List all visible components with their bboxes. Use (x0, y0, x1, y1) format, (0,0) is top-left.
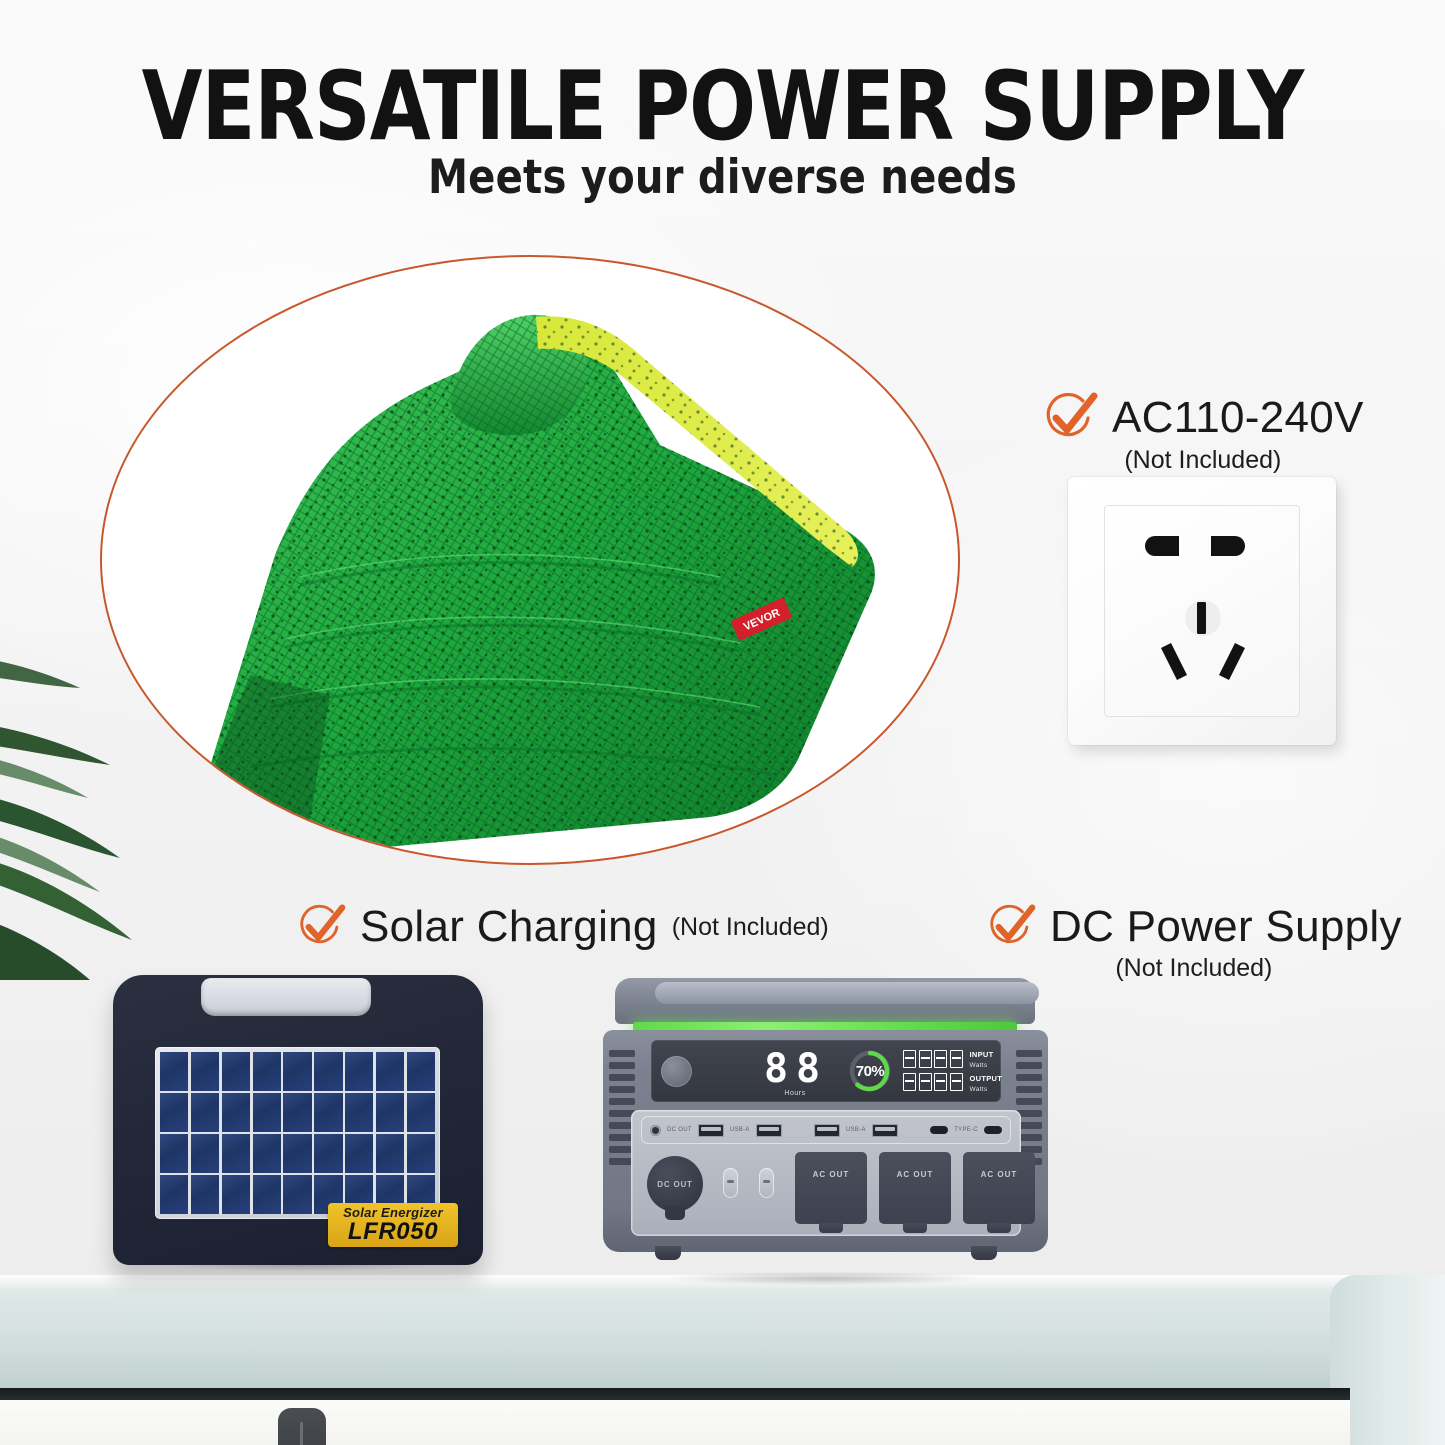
ac-outlet-3[interactable]: AC OUT (963, 1152, 1035, 1224)
drawer-handle[interactable] (278, 1408, 326, 1445)
port-panel: DC OUT USB-A USB-A TYPE-C DC OUT (631, 1110, 1021, 1236)
solar-cell-grid (160, 1052, 435, 1214)
solar-cell-frame (155, 1047, 440, 1219)
input-unit: Watts (970, 1063, 1003, 1070)
power-button[interactable] (661, 1056, 692, 1087)
check-circle-icon (296, 904, 346, 950)
check-circle-icon (1042, 392, 1098, 444)
product-photo-frame: VEVOR (100, 255, 960, 865)
usb-a-port-1[interactable] (698, 1124, 724, 1137)
feature-note: (Not Included) (672, 913, 829, 942)
output-unit: Watts (970, 1087, 1003, 1094)
solar-panel-badge: Solar Energizer LFR050 (328, 1203, 458, 1247)
solar-panel-handle[interactable] (201, 978, 371, 1016)
usb-c-port-1[interactable] (930, 1126, 948, 1134)
feature-solar-charging: Solar Charging (Not Included) (296, 902, 829, 952)
dc-out-label: DC OUT (647, 1156, 703, 1212)
output-label: OUTPUT (970, 1075, 1003, 1083)
station-body: 8 8 Hours 70% INPUT Watts (603, 1030, 1048, 1252)
output-value (903, 1073, 963, 1091)
portable-power-station[interactable]: 8 8 Hours 70% INPUT Watts (593, 978, 1058, 1280)
toggle-switch-dc[interactable] (723, 1168, 738, 1198)
solar-panel-unit[interactable]: Solar Energizer LFR050 (113, 975, 483, 1265)
watt-readouts: INPUT Watts OUTPUT Watts (903, 1050, 1002, 1094)
hours-digit-2: 8 (795, 1050, 821, 1090)
ac-out-label: AC OUT (879, 1170, 951, 1179)
page-subtitle: Meets your diverse needs (36, 150, 1409, 205)
ac-outlet-2[interactable]: AC OUT (879, 1152, 951, 1224)
station-top-shell (615, 978, 1035, 1024)
feature-label: AC110-240V (1112, 393, 1364, 443)
usb-a-label-2: USB-A (846, 1127, 866, 1133)
lcd-display: 8 8 Hours 70% INPUT Watts (651, 1040, 1001, 1102)
dc-out-socket[interactable]: DC OUT (647, 1156, 703, 1218)
hours-digits: 8 8 (763, 1050, 821, 1090)
feature-note: (Not Included) (1042, 446, 1364, 475)
dc-in-port[interactable] (650, 1125, 661, 1136)
ellipse-outline (100, 255, 960, 865)
battery-percent: 70% (847, 1048, 893, 1094)
product-marketing-image: VERSATILE POWER SUPPLY Meets your divers… (0, 0, 1445, 1445)
wall-outlet-faceplate (1104, 505, 1300, 717)
ac-out-label: AC OUT (963, 1170, 1035, 1179)
usb-a-label-1: USB-A (730, 1127, 750, 1133)
ports-row: DC OUT USB-A USB-A TYPE-C (641, 1116, 1011, 1144)
outlet-holes (1105, 506, 1301, 718)
badge-model: LFR050 (348, 1220, 438, 1244)
usb-a-port-2[interactable] (756, 1124, 782, 1137)
feature-dc-power: DC Power Supply (Not Included) (986, 902, 1402, 983)
cabinet-drawer[interactable] (0, 1400, 1350, 1445)
check-circle-icon (986, 904, 1036, 950)
dc-out-tab (665, 1206, 685, 1220)
input-value (903, 1050, 963, 1068)
usb-c-label: TYPE-C (954, 1127, 978, 1133)
wall-outlet[interactable] (1068, 477, 1336, 745)
toggle-switch-ac[interactable] (759, 1168, 774, 1198)
usb-c-port-2[interactable] (984, 1126, 1002, 1134)
feature-ac-power: AC110-240V (Not Included) (1042, 392, 1364, 475)
dc-in-label: DC OUT (667, 1127, 692, 1133)
station-foot-left (655, 1246, 681, 1260)
station-foot-right (971, 1246, 997, 1260)
ac-outlet-1[interactable]: AC OUT (795, 1152, 867, 1224)
feature-label: Solar Charging (360, 902, 658, 952)
input-label: INPUT (970, 1051, 1003, 1059)
hours-label: Hours (763, 1090, 827, 1097)
ac-out-label: AC OUT (795, 1170, 867, 1179)
station-top-cap (655, 982, 1039, 1004)
cabinet-surface (0, 1275, 1390, 1395)
page-title: VERSATILE POWER SUPPLY (58, 52, 1387, 162)
feature-label: DC Power Supply (1050, 902, 1402, 952)
hours-digit-1: 8 (763, 1050, 789, 1090)
usb-a-port-4[interactable] (872, 1124, 898, 1137)
usb-a-port-3[interactable] (814, 1124, 840, 1137)
